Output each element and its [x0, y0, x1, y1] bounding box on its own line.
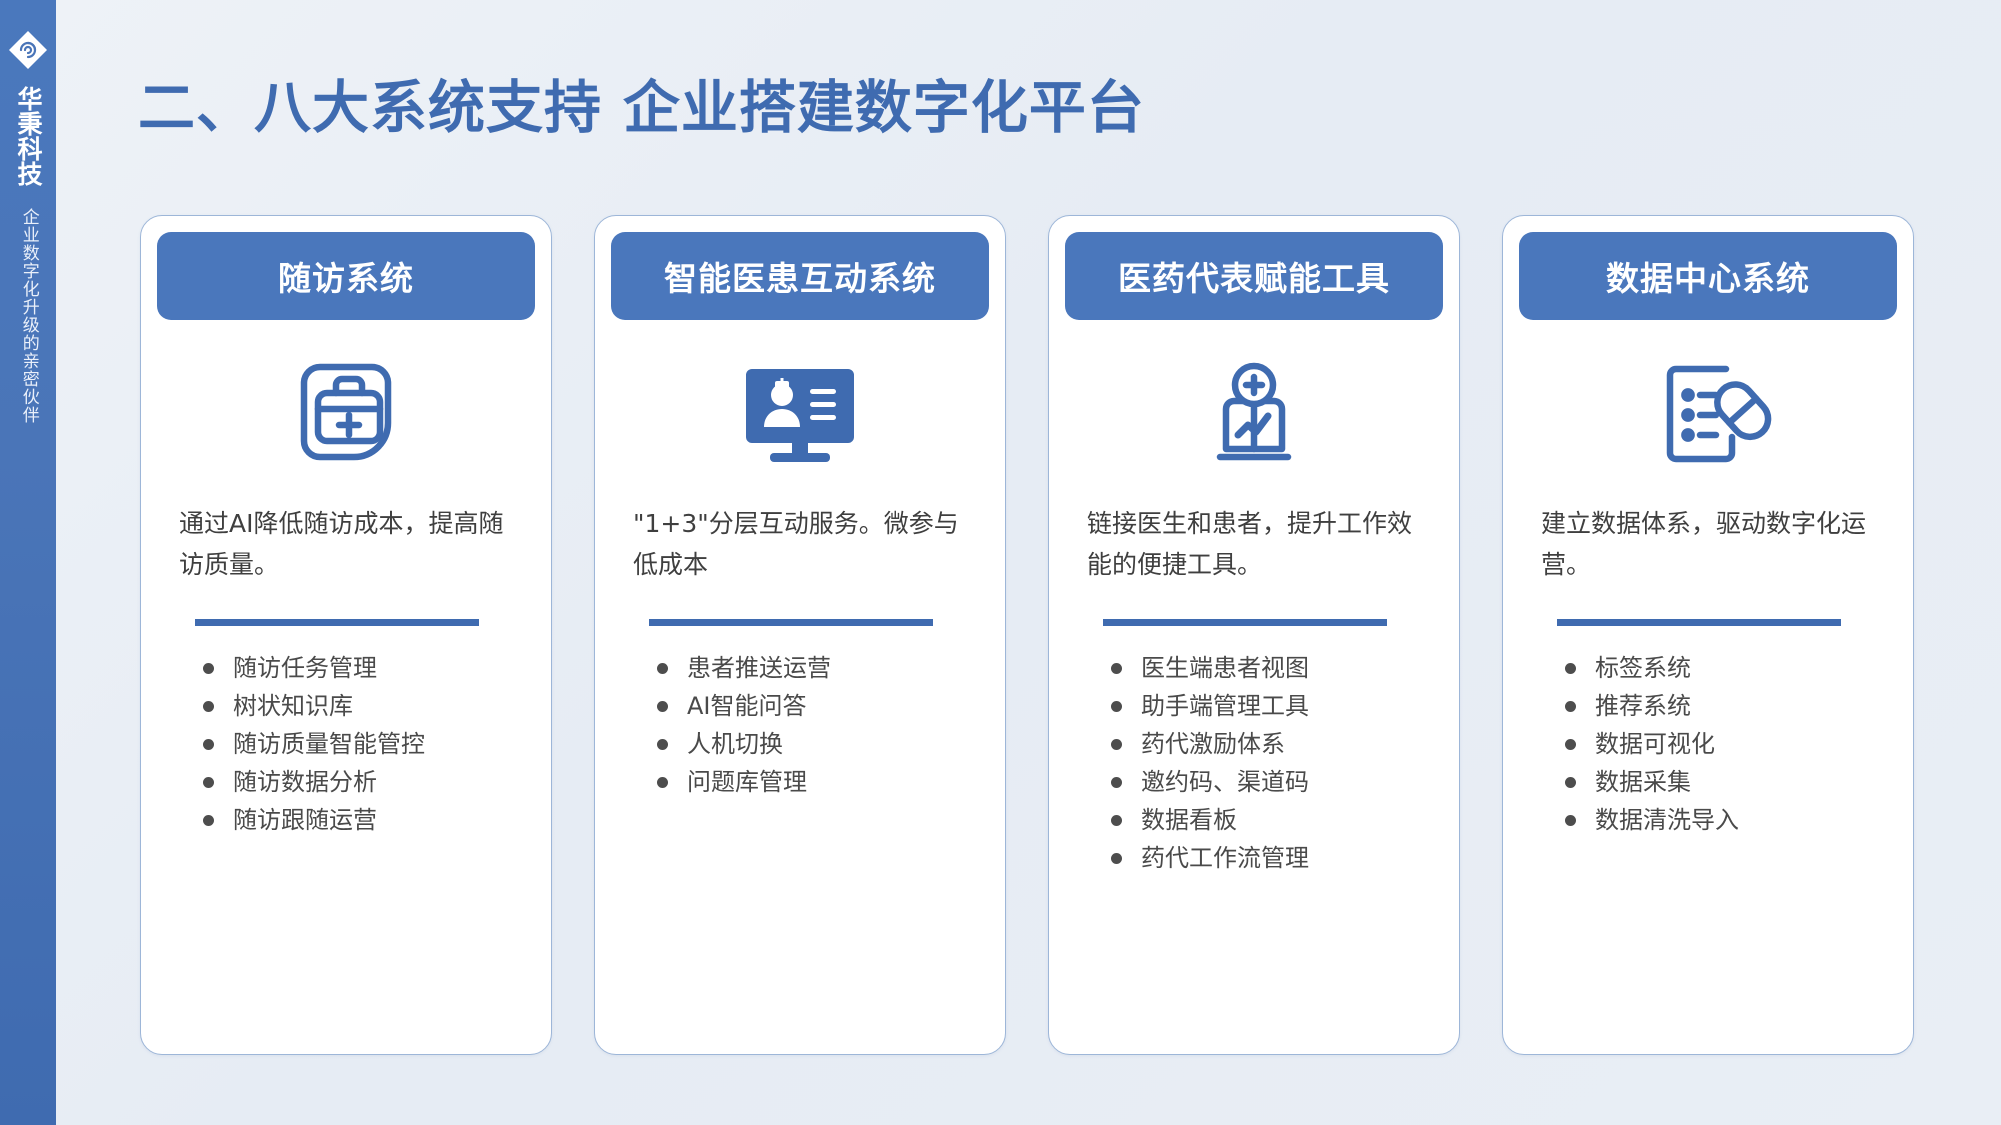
- list-item: 随访质量智能管控: [199, 726, 535, 764]
- card-description: 建立数据体系，驱动数字化运营。: [1519, 504, 1897, 585]
- list-item: 药代工作流管理: [1107, 840, 1443, 878]
- card-description: "1+3"分层互动服务。微参与低成本: [611, 504, 989, 585]
- list-item: 邀约码、渠道码: [1107, 764, 1443, 802]
- list-item: 推荐系统: [1561, 688, 1897, 726]
- card-title-banner: 医药代表赋能工具: [1065, 232, 1443, 320]
- list-item: 随访跟随运营: [199, 802, 535, 840]
- card-divider: [649, 619, 933, 626]
- list-item: 药代激励体系: [1107, 726, 1443, 764]
- system-card-grid: 随访系统 通过AI降低随访成本，提高随访质量。 随访任务管理 树状知识库 随访质…: [140, 215, 1950, 1055]
- list-item: 数据可视化: [1561, 726, 1897, 764]
- system-card-data-center[interactable]: 数据中心系统 建立数据体系，驱动数字化运营。: [1502, 215, 1914, 1055]
- card-divider: [1103, 619, 1387, 626]
- slide-canvas: 华秉科技 企业数字化升级的亲密伙伴 二、八大系统支持 企业搭建数字化平台 随访系…: [0, 0, 2001, 1125]
- card-title-banner: 随访系统: [157, 232, 535, 320]
- list-item: 数据采集: [1561, 764, 1897, 802]
- system-card-followup[interactable]: 随访系统 通过AI降低随访成本，提高随访质量。 随访任务管理 树状知识库 随访质…: [140, 215, 552, 1055]
- system-card-patient-interaction[interactable]: 智能医患互动系统: [594, 215, 1006, 1055]
- card-title-banner: 智能医患互动系统: [611, 232, 989, 320]
- card-divider: [1557, 619, 1841, 626]
- list-item: 医生端患者视图: [1107, 650, 1443, 688]
- system-card-rep-tools[interactable]: 医药代表赋能工具 链接医生和患者，提升工作效能的便捷工具。 医生端患者视图 助手…: [1048, 215, 1460, 1055]
- list-item: AI智能问答: [653, 688, 989, 726]
- list-item: 随访数据分析: [199, 764, 535, 802]
- list-item: 随访任务管理: [199, 650, 535, 688]
- list-item: 树状知识库: [199, 688, 535, 726]
- list-item: 数据看板: [1107, 802, 1443, 840]
- clipboard-pill-icon: [1519, 336, 1897, 486]
- list-item: 人机切换: [653, 726, 989, 764]
- brand-tagline: 企业数字化升级的亲密伙伴: [14, 208, 42, 424]
- diamond-spiral-logo-icon: [6, 28, 50, 72]
- medical-rep-chart-icon: [1065, 336, 1443, 486]
- list-item: 标签系统: [1561, 650, 1897, 688]
- medical-briefcase-icon: [157, 336, 535, 486]
- card-divider: [195, 619, 479, 626]
- brand-sidebar: 华秉科技 企业数字化升级的亲密伙伴: [0, 0, 56, 1125]
- list-item: 患者推送运营: [653, 650, 989, 688]
- doctor-monitor-icon: [611, 336, 989, 486]
- list-item: 助手端管理工具: [1107, 688, 1443, 726]
- card-feature-list: 随访任务管理 树状知识库 随访质量智能管控 随访数据分析 随访跟随运营: [157, 650, 535, 840]
- list-item: 数据清洗导入: [1561, 802, 1897, 840]
- card-feature-list: 标签系统 推荐系统 数据可视化 数据采集 数据清洗导入: [1519, 650, 1897, 840]
- card-feature-list: 患者推送运营 AI智能问答 人机切换 问题库管理: [611, 650, 989, 802]
- card-feature-list: 医生端患者视图 助手端管理工具 药代激励体系 邀约码、渠道码 数据看板 药代工作…: [1065, 650, 1443, 877]
- list-item: 问题库管理: [653, 764, 989, 802]
- brand-name: 华秉科技: [14, 86, 42, 186]
- card-description: 通过AI降低随访成本，提高随访质量。: [157, 504, 535, 585]
- page-title: 二、八大系统支持 企业搭建数字化平台: [138, 62, 1145, 144]
- card-title-banner: 数据中心系统: [1519, 232, 1897, 320]
- card-description: 链接医生和患者，提升工作效能的便捷工具。: [1065, 504, 1443, 585]
